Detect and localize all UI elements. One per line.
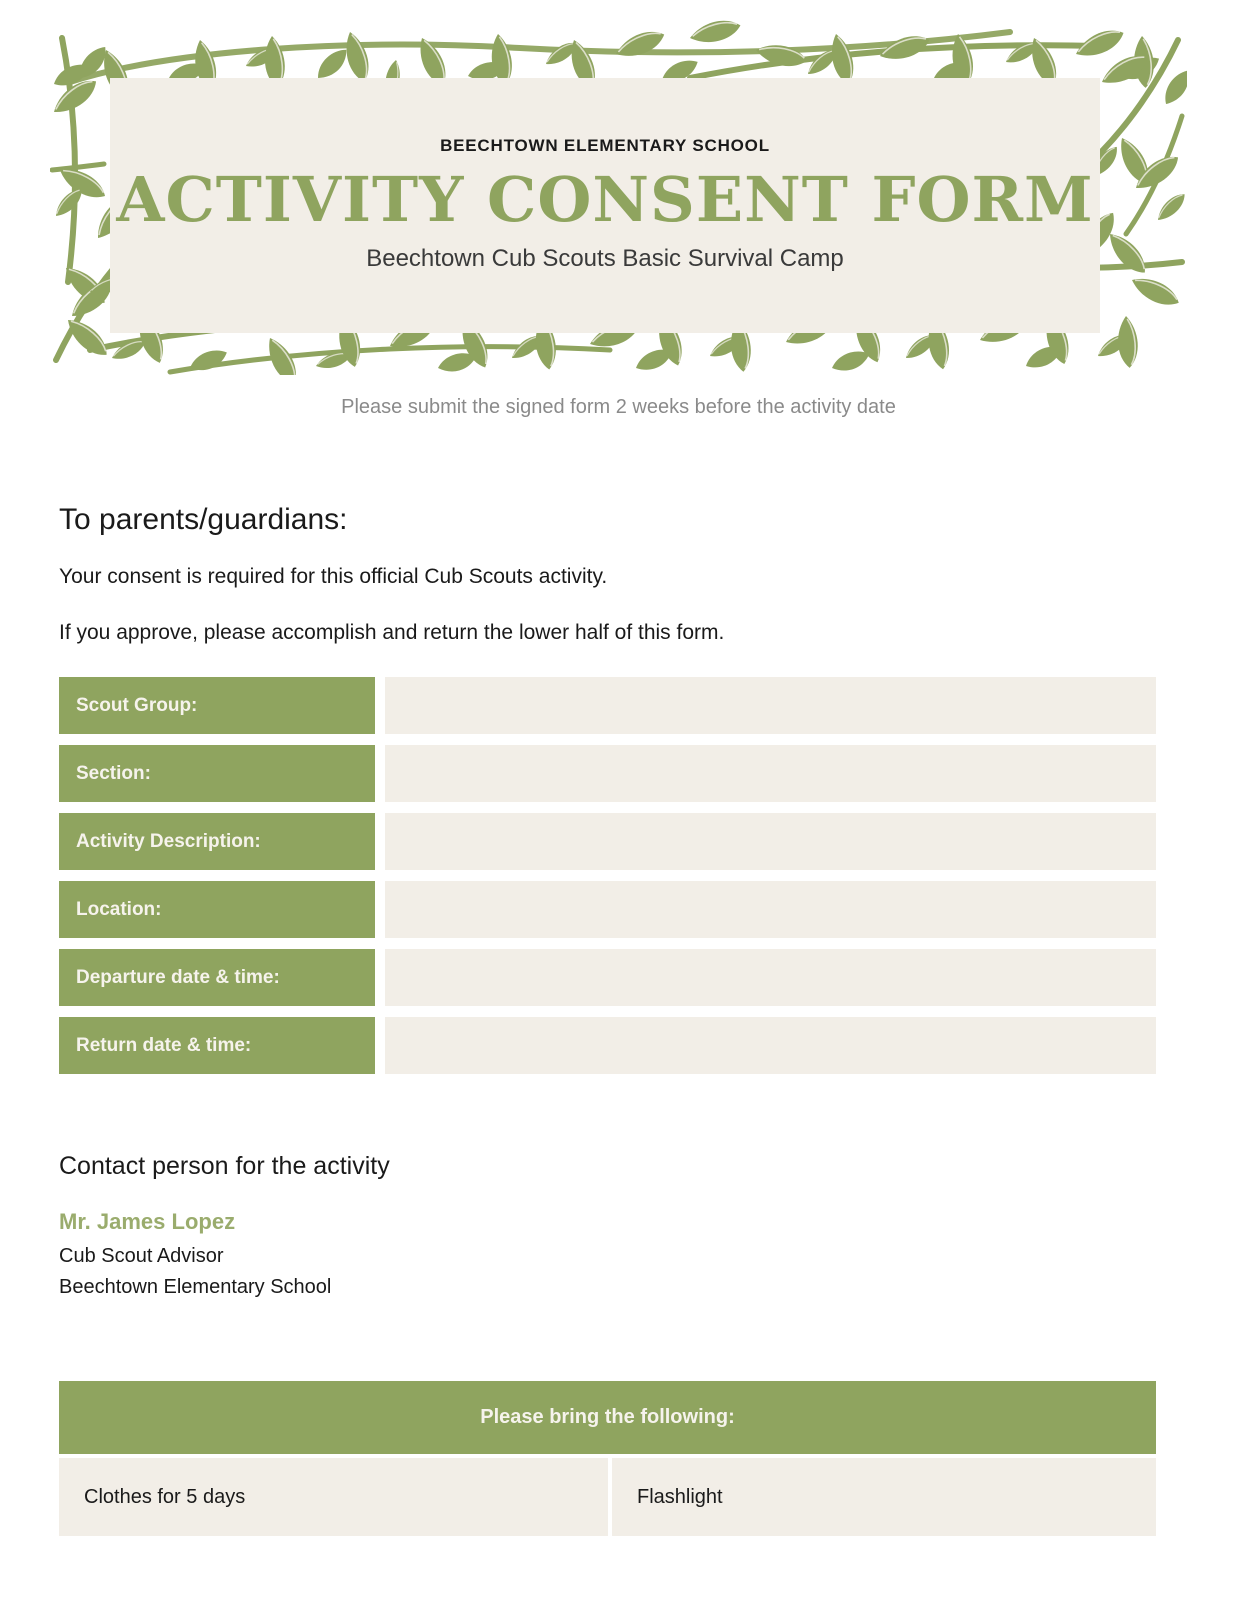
detail-label-location: Location:: [59, 881, 375, 938]
contact-section-heading: Contact person for the activity: [59, 1152, 390, 1181]
table-row: Return date & time:: [59, 1017, 1156, 1074]
contact-person-organization: Beechtown Elementary School: [59, 1276, 331, 1299]
detail-label-departure: Departure date & time:: [59, 949, 375, 1006]
table-row: Activity Description:: [59, 813, 1156, 870]
list-item: Clothes for 5 days: [59, 1458, 608, 1536]
detail-field-return[interactable]: [385, 1017, 1156, 1074]
contact-person-name: Mr. James Lopez: [59, 1209, 235, 1235]
detail-field-scout-group[interactable]: [385, 677, 1156, 734]
detail-label-section: Section:: [59, 745, 375, 802]
consent-statement-line-1: Your consent is required for this offici…: [59, 565, 607, 589]
detail-label-return: Return date & time:: [59, 1017, 375, 1074]
parents-guardians-heading: To parents/guardians:: [59, 503, 348, 537]
detail-label-activity-description: Activity Description:: [59, 813, 375, 870]
detail-field-section[interactable]: [385, 745, 1156, 802]
header-banner: BEECHTOWN ELEMENTARY SCHOOL ACTIVITY CON…: [50, 20, 1187, 375]
table-row: Section:: [59, 745, 1156, 802]
activity-details-table: Scout Group: Section: Activity Descripti…: [59, 677, 1156, 1085]
submission-note: Please submit the signed form 2 weeks be…: [0, 396, 1237, 419]
table-row: Departure date & time:: [59, 949, 1156, 1006]
page-title: ACTIVITY CONSENT FORM: [116, 168, 1093, 231]
contact-person-role: Cub Scout Advisor: [59, 1245, 224, 1268]
list-item: Flashlight: [612, 1458, 1156, 1536]
detail-label-scout-group: Scout Group:: [59, 677, 375, 734]
table-row: Scout Group:: [59, 677, 1156, 734]
detail-field-location[interactable]: [385, 881, 1156, 938]
table-row: Location:: [59, 881, 1156, 938]
bring-items-header: Please bring the following:: [59, 1381, 1156, 1454]
consent-statement-line-2: If you approve, please accomplish and re…: [59, 621, 724, 645]
page-subtitle: Beechtown Cub Scouts Basic Survival Camp: [366, 245, 844, 273]
bring-items-table: Please bring the following: Clothes for …: [59, 1381, 1156, 1536]
header-title-plate: BEECHTOWN ELEMENTARY SCHOOL ACTIVITY CON…: [110, 78, 1100, 333]
detail-field-departure[interactable]: [385, 949, 1156, 1006]
bring-items-row: Clothes for 5 days Flashlight: [59, 1458, 1156, 1536]
school-name: BEECHTOWN ELEMENTARY SCHOOL: [440, 136, 770, 156]
detail-field-activity-description[interactable]: [385, 813, 1156, 870]
